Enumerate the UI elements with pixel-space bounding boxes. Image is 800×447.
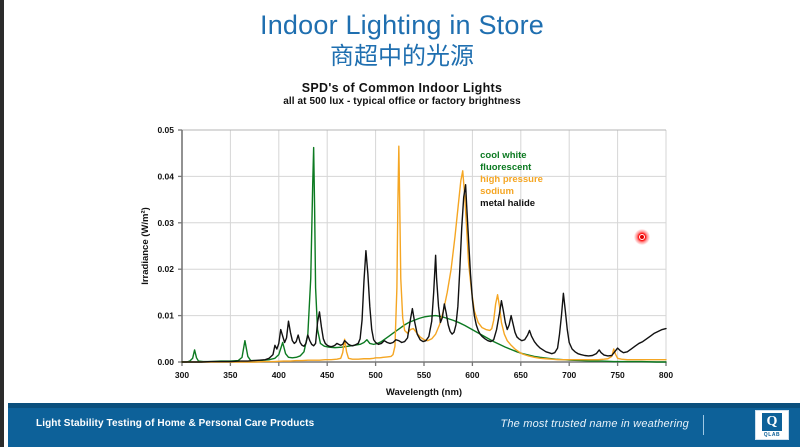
qlab-logo-wordmark: QLAB (764, 432, 781, 438)
slide-canvas: Indoor Lighting in Store 商超中的光源 SPD's of… (4, 0, 800, 447)
x-tick-label: 300 (175, 370, 189, 380)
x-tick-label: 400 (272, 370, 286, 380)
x-tick-label: 700 (562, 370, 576, 380)
x-tick-label: 500 (369, 370, 383, 380)
legend-label: sodium (480, 186, 514, 197)
footer-left-text: Light Stability Testing of Home & Person… (36, 418, 314, 429)
x-tick-label: 550 (417, 370, 431, 380)
x-tick-label: 600 (465, 370, 479, 380)
x-axis-title: Wavelength (nm) (386, 387, 462, 398)
legend-label: cool white (480, 150, 526, 161)
x-tick-label: 650 (514, 370, 528, 380)
legend-label: metal halide (480, 198, 535, 209)
chart-title: SPD's of Common Indoor Lights (4, 81, 800, 95)
y-tick-label: 0.03 (157, 218, 174, 228)
y-axis-title: Irradiance (W/m²) (140, 207, 151, 285)
title-block: Indoor Lighting in Store 商超中的光源 (4, 10, 800, 72)
qlab-logo: Q QLAB (755, 410, 789, 440)
footer-bar: Light Stability Testing of Home & Person… (8, 403, 800, 447)
x-tick-label: 800 (659, 370, 673, 380)
x-tick-label: 350 (223, 370, 237, 380)
footer-divider (703, 415, 704, 435)
x-tick-label: 450 (320, 370, 334, 380)
red-cursor-dot (634, 229, 650, 245)
y-tick-label: 0.04 (157, 171, 174, 181)
y-tick-label: 0.01 (157, 311, 174, 321)
qlab-logo-mark: Q (762, 413, 782, 431)
legend-label: fluorescent (480, 162, 532, 173)
y-tick-label: 0.05 (157, 125, 174, 135)
chart-subtitle: all at 500 lux - typical office or facto… (4, 96, 800, 107)
y-tick-label: 0.00 (157, 357, 174, 367)
red-cursor-dot-core (639, 234, 645, 240)
legend-label: high pressure (480, 174, 543, 185)
page-title-chinese: 商超中的光源 (4, 42, 800, 72)
spd-chart: 0.000.010.020.030.040.053003504004505005… (130, 112, 686, 400)
x-tick-label: 750 (611, 370, 625, 380)
page-title: Indoor Lighting in Store (4, 10, 800, 40)
chart-svg: 0.000.010.020.030.040.053003504004505005… (130, 112, 686, 400)
footer-tagline: The most trusted name in weathering (500, 418, 689, 430)
y-tick-label: 0.02 (157, 264, 174, 274)
